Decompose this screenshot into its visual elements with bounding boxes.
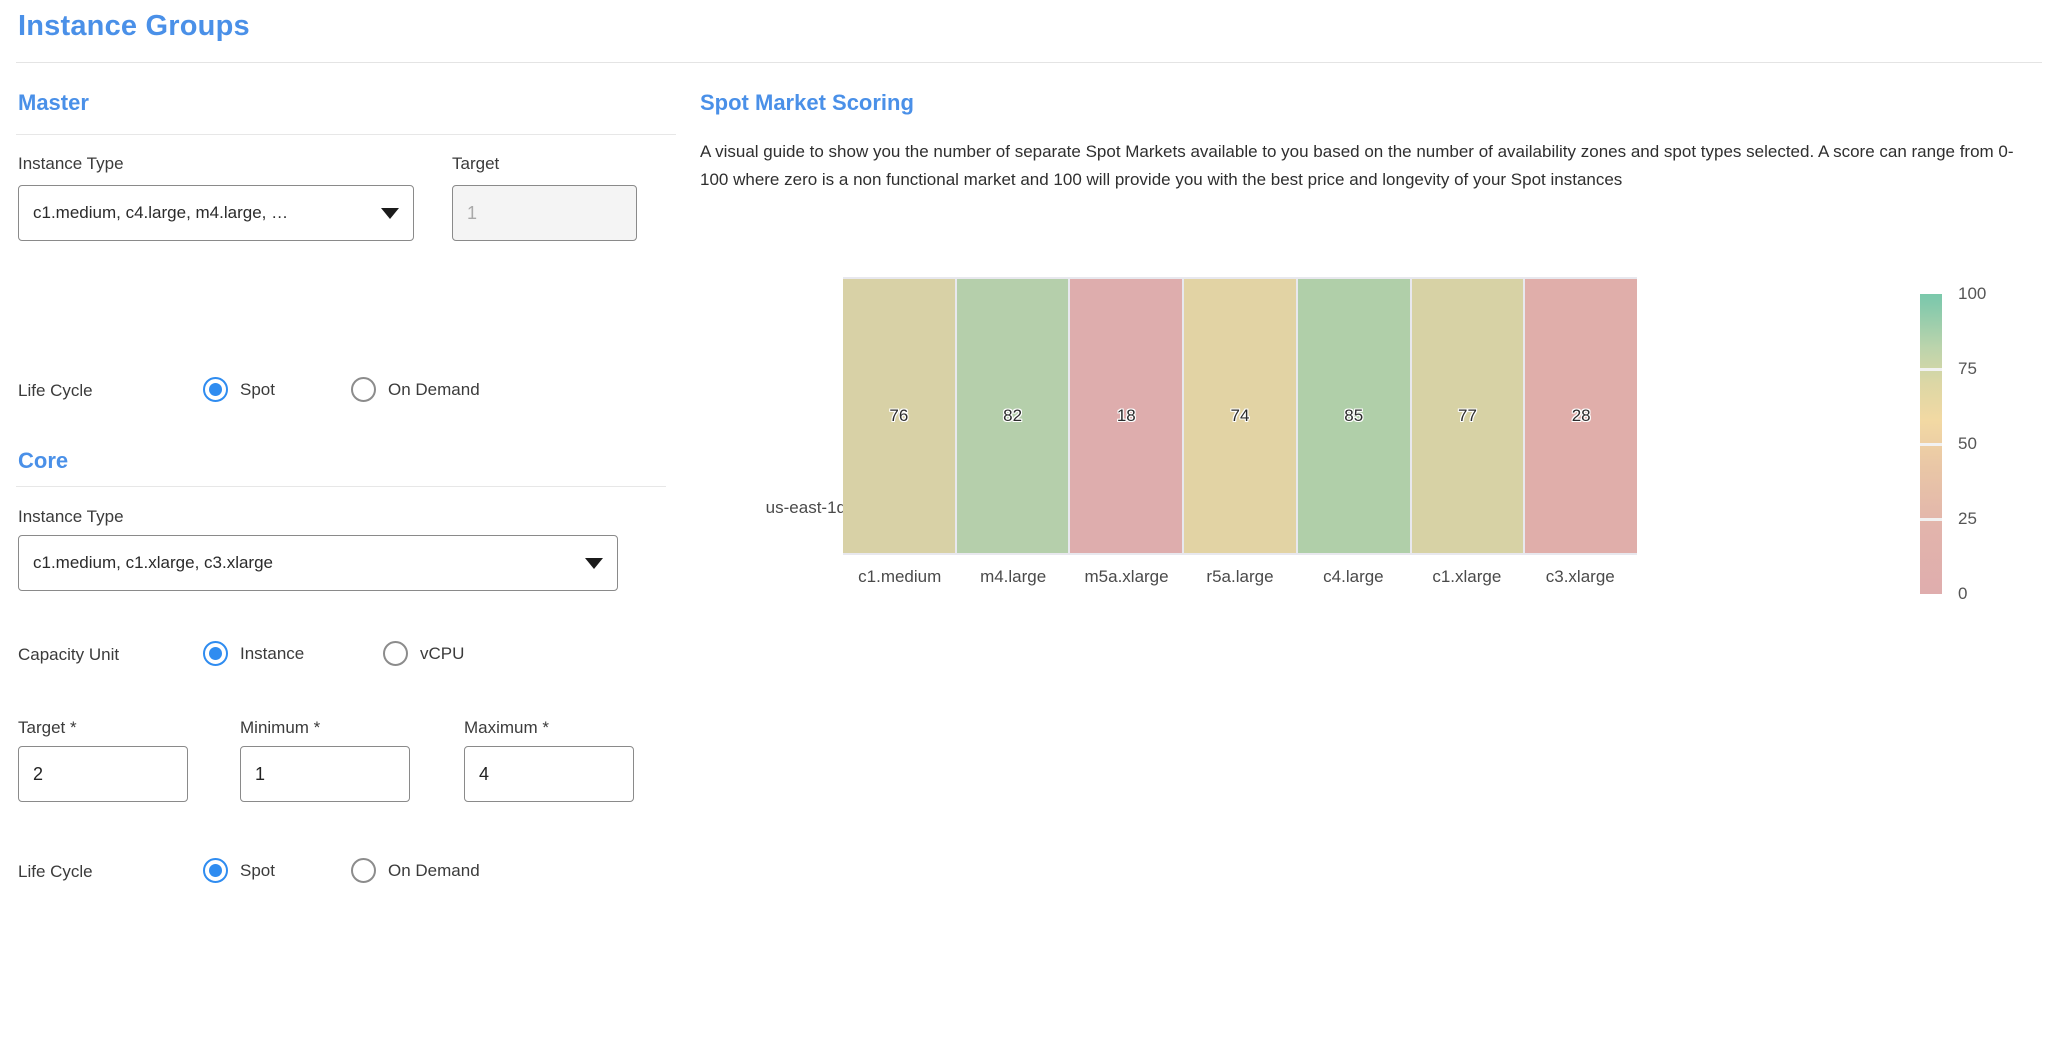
heatmap-cell[interactable]: 74 (1184, 279, 1296, 553)
heatmap-cell[interactable]: 76 (843, 279, 955, 553)
heatmap-cell-value: 18 (1117, 406, 1136, 426)
heatmap-cell[interactable]: 82 (957, 279, 1069, 553)
core-maximum-label: Maximum * (464, 718, 549, 738)
master-divider (16, 134, 676, 135)
heatmap-cell-value: 82 (1003, 406, 1022, 426)
heatmap-row-label: us-east-1d (766, 498, 846, 518)
colorbar-tick (1920, 368, 1942, 371)
core-maximum-input[interactable]: 4 (464, 746, 634, 802)
core-capacity-unit-radio-group: Capacity Unit Instance vCPU (18, 641, 618, 671)
core-minimum-label: Minimum * (240, 718, 320, 738)
heatmap-colorbar: 0255075100 (1920, 294, 2050, 594)
radio-icon-on-demand[interactable] (351, 377, 376, 402)
colorbar-tick-label: 75 (1958, 359, 1977, 379)
core-life-cycle-option-on-demand[interactable]: On Demand (351, 858, 480, 883)
section-heading-core: Core (18, 448, 68, 474)
heatmap-x-axis-labels: c1.mediumm4.largem5a.xlarger5a.largec4.l… (843, 567, 1637, 587)
radio-icon-on-demand[interactable] (351, 858, 376, 883)
heatmap-x-label: c3.xlarge (1524, 567, 1637, 587)
core-target-label: Target * (18, 718, 77, 738)
heatmap-cell-value: 85 (1344, 406, 1363, 426)
heatmap-cell-value: 77 (1458, 406, 1477, 426)
heatmap-cell-value: 74 (1231, 406, 1250, 426)
heatmap-x-label: m4.large (956, 567, 1069, 587)
master-target-label: Target (452, 154, 499, 174)
heatmap-cell[interactable]: 18 (1070, 279, 1182, 553)
colorbar-tick-label: 0 (1958, 584, 1967, 604)
core-life-cycle-label: Life Cycle (18, 862, 93, 882)
core-life-cycle-radio-group: Life Cycle Spot On Demand (18, 858, 618, 888)
master-life-cycle-option-spot-label: Spot (240, 380, 275, 400)
core-capacity-unit-option-vcpu-label: vCPU (420, 644, 464, 664)
heatmap-x-label: c4.large (1297, 567, 1410, 587)
core-instance-type-label: Instance Type (18, 507, 124, 527)
spot-market-scoring-panel: Spot Market Scoring A visual guide to sh… (700, 72, 2058, 1058)
core-capacity-unit-label: Capacity Unit (18, 645, 119, 665)
core-capacity-unit-option-instance[interactable]: Instance (203, 641, 304, 666)
heatmap-cells: 76821874857728 (843, 277, 1637, 555)
core-life-cycle-option-spot-label: Spot (240, 861, 275, 881)
core-instance-type-value: c1.medium, c1.xlarge, c3.xlarge (33, 553, 575, 573)
colorbar-tick-label: 100 (1958, 284, 1986, 304)
core-maximum-value: 4 (479, 764, 489, 785)
master-life-cycle-label: Life Cycle (18, 381, 93, 401)
radio-icon-instance[interactable] (203, 641, 228, 666)
master-life-cycle-option-spot[interactable]: Spot (203, 377, 275, 402)
core-target-input[interactable]: 2 (18, 746, 188, 802)
heatmap-cell[interactable]: 28 (1525, 279, 1637, 553)
heatmap-cell-value: 76 (889, 406, 908, 426)
radio-icon-spot[interactable] (203, 377, 228, 402)
colorbar-tick (1920, 443, 1942, 446)
master-instance-type-label: Instance Type (18, 154, 124, 174)
core-life-cycle-option-on-demand-label: On Demand (388, 861, 480, 881)
master-target-value: 1 (467, 203, 477, 224)
core-minimum-input[interactable]: 1 (240, 746, 410, 802)
core-life-cycle-option-spot[interactable]: Spot (203, 858, 275, 883)
heatmap-x-label: r5a.large (1183, 567, 1296, 587)
chevron-down-icon (585, 558, 603, 569)
master-target-input[interactable]: 1 (452, 185, 637, 241)
core-minimum-value: 1 (255, 764, 265, 785)
core-divider (16, 486, 666, 487)
page-title: Instance Groups (18, 10, 250, 43)
radio-icon-vcpu[interactable] (383, 641, 408, 666)
core-capacity-unit-option-instance-label: Instance (240, 644, 304, 664)
title-divider (16, 62, 2042, 63)
spot-market-heatmap: us-east-1d 76821874857728 c1.mediumm4.la… (700, 202, 2058, 722)
master-life-cycle-radio-group: Life Cycle Spot On Demand (18, 377, 618, 407)
heatmap-cell-value: 28 (1572, 406, 1591, 426)
spot-market-scoring-description: A visual guide to show you the number of… (700, 138, 2030, 194)
master-instance-type-select[interactable]: c1.medium, c4.large, m4.large, … (18, 185, 414, 241)
master-life-cycle-option-on-demand-label: On Demand (388, 380, 480, 400)
chevron-down-icon (381, 208, 399, 219)
heatmap-x-label: m5a.xlarge (1070, 567, 1183, 587)
instance-groups-form: Master Instance Type Target c1.medium, c… (0, 72, 700, 1058)
core-instance-type-select[interactable]: c1.medium, c1.xlarge, c3.xlarge (18, 535, 618, 591)
heatmap-cell[interactable]: 85 (1298, 279, 1410, 553)
heatmap-cell[interactable]: 77 (1412, 279, 1524, 553)
heatmap-x-label: c1.medium (843, 567, 956, 587)
master-life-cycle-option-on-demand[interactable]: On Demand (351, 377, 480, 402)
core-capacity-unit-option-vcpu[interactable]: vCPU (383, 641, 464, 666)
core-target-value: 2 (33, 764, 43, 785)
spot-market-scoring-title: Spot Market Scoring (700, 90, 914, 116)
colorbar-tick (1920, 518, 1942, 521)
section-heading-master: Master (18, 90, 89, 116)
radio-icon-spot[interactable] (203, 858, 228, 883)
master-instance-type-value: c1.medium, c4.large, m4.large, … (33, 203, 371, 223)
colorbar-tick-label: 25 (1958, 509, 1977, 529)
colorbar-tick-label: 50 (1958, 434, 1977, 454)
heatmap-x-label: c1.xlarge (1410, 567, 1523, 587)
